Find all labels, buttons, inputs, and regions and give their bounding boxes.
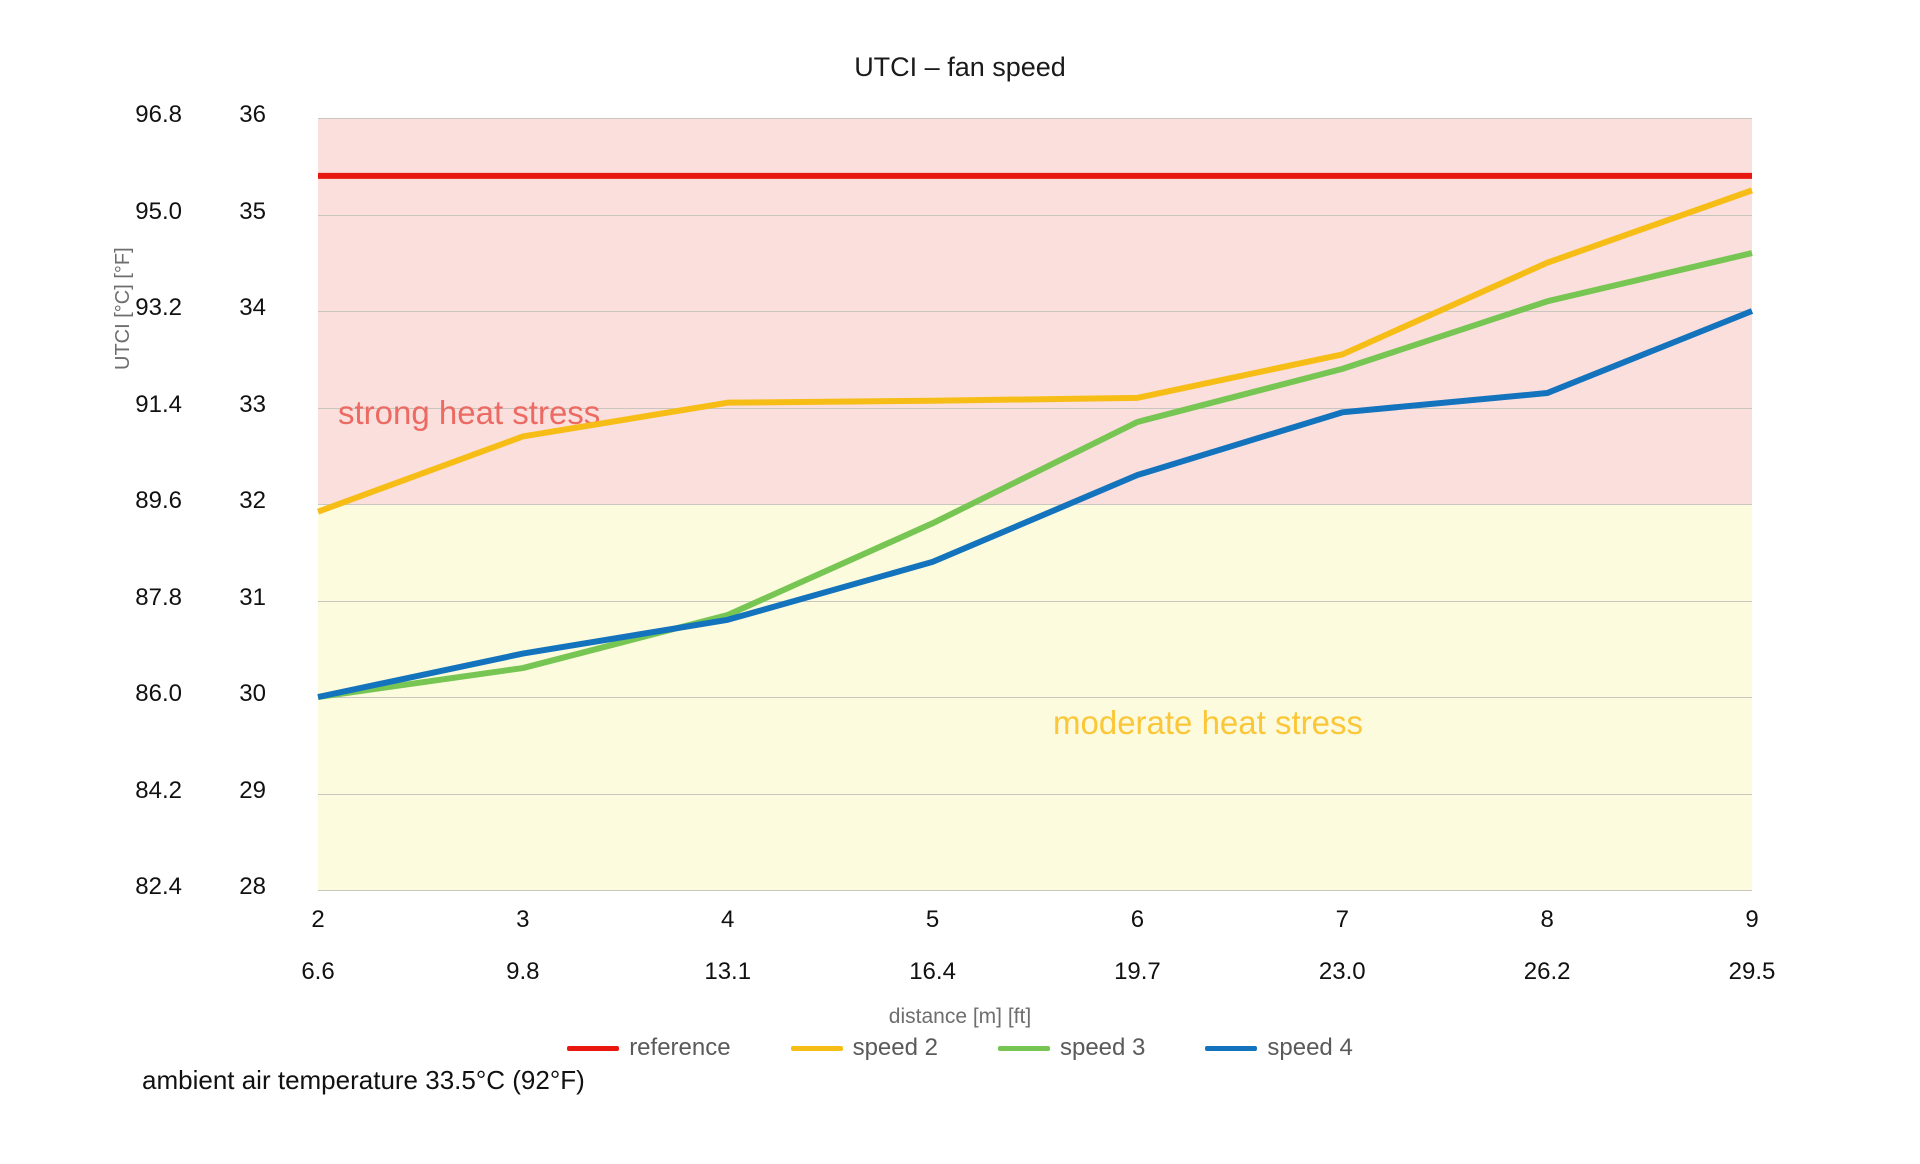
y-tick-fahrenheit: 86.0 — [82, 684, 182, 704]
x-tick-feet: 23.0 — [1282, 958, 1402, 986]
y-axis-tick: 87.831 — [0, 588, 318, 608]
legend-label: speed 2 — [853, 1034, 938, 1062]
legend-item-speed-3[interactable]: speed 3 — [998, 1034, 1145, 1062]
x-axis-tick: 929.5 — [1692, 906, 1812, 986]
y-tick-fahrenheit: 93.2 — [82, 298, 182, 318]
y-tick-celsius: 29 — [206, 781, 266, 801]
y-tick-fahrenheit: 91.4 — [82, 395, 182, 415]
series-line-speed-4 — [318, 311, 1752, 697]
y-axis-tick: 86.030 — [0, 684, 318, 704]
legend-label: speed 4 — [1267, 1034, 1352, 1062]
gridline — [318, 890, 1752, 891]
series-lines — [318, 118, 1752, 890]
legend-swatch-icon — [1205, 1046, 1257, 1051]
x-tick-feet: 16.4 — [873, 958, 993, 986]
y-tick-celsius: 30 — [206, 684, 266, 704]
legend-label: reference — [629, 1034, 730, 1062]
x-axis-tick: 516.4 — [873, 906, 993, 986]
x-axis-tick: 723.0 — [1282, 906, 1402, 986]
y-tick-celsius: 31 — [206, 588, 266, 608]
x-tick-meters: 9 — [1692, 906, 1812, 934]
x-tick-meters: 4 — [668, 906, 788, 934]
chart-container: UTCI – fan speed UTCI [°C] [°F] 96.83695… — [0, 0, 1920, 1164]
y-tick-celsius: 28 — [206, 877, 266, 897]
x-tick-feet: 19.7 — [1077, 958, 1197, 986]
x-axis-title: distance [m] [ft] — [0, 1005, 1920, 1029]
y-tick-fahrenheit: 82.4 — [82, 877, 182, 897]
x-tick-feet: 29.5 — [1692, 958, 1812, 986]
x-tick-meters: 3 — [463, 906, 583, 934]
y-axis-tick: 96.836 — [0, 105, 318, 125]
x-axis-tick: 619.7 — [1077, 906, 1197, 986]
x-tick-feet: 26.2 — [1487, 958, 1607, 986]
x-tick-meters: 5 — [873, 906, 993, 934]
y-axis-tick: 95.035 — [0, 202, 318, 222]
x-tick-feet: 9.8 — [463, 958, 583, 986]
x-axis-tick: 826.2 — [1487, 906, 1607, 986]
y-tick-fahrenheit: 87.8 — [82, 588, 182, 608]
y-tick-fahrenheit: 84.2 — [82, 781, 182, 801]
y-axis-tick: 84.229 — [0, 781, 318, 801]
y-axis-tick: 82.428 — [0, 877, 318, 897]
y-tick-celsius: 36 — [206, 105, 266, 125]
chart-title: UTCI – fan speed — [0, 52, 1920, 83]
y-tick-celsius: 35 — [206, 202, 266, 222]
legend-swatch-icon — [791, 1046, 843, 1051]
x-axis-tick: 26.6 — [258, 906, 378, 986]
chart-caption: ambient air temperature 33.5°C (92°F) — [142, 1065, 585, 1096]
y-axis-tick: 91.433 — [0, 395, 318, 415]
y-tick-fahrenheit: 96.8 — [82, 105, 182, 125]
plot-area: strong heat stress moderate heat stress — [318, 118, 1752, 890]
x-tick-meters: 2 — [258, 906, 378, 934]
x-tick-meters: 8 — [1487, 906, 1607, 934]
x-tick-meters: 6 — [1077, 906, 1197, 934]
series-line-speed-2 — [318, 190, 1752, 511]
y-tick-celsius: 33 — [206, 395, 266, 415]
legend-item-speed-2[interactable]: speed 2 — [791, 1034, 938, 1062]
y-axis-tick: 93.234 — [0, 298, 318, 318]
y-tick-celsius: 34 — [206, 298, 266, 318]
y-axis-tick: 89.632 — [0, 491, 318, 511]
y-tick-celsius: 32 — [206, 491, 266, 511]
legend-item-speed-4[interactable]: speed 4 — [1205, 1034, 1352, 1062]
series-line-speed-3 — [318, 253, 1752, 697]
x-tick-feet: 13.1 — [668, 958, 788, 986]
x-axis-tick: 413.1 — [668, 906, 788, 986]
x-axis-tick: 39.8 — [463, 906, 583, 986]
y-tick-fahrenheit: 95.0 — [82, 202, 182, 222]
legend-label: speed 3 — [1060, 1034, 1145, 1062]
x-tick-feet: 6.6 — [258, 958, 378, 986]
x-tick-meters: 7 — [1282, 906, 1402, 934]
y-tick-fahrenheit: 89.6 — [82, 491, 182, 511]
legend-swatch-icon — [567, 1046, 619, 1051]
legend-swatch-icon — [998, 1046, 1050, 1051]
chart-legend: referencespeed 2speed 3speed 4 — [0, 1034, 1920, 1062]
legend-item-reference[interactable]: reference — [567, 1034, 730, 1062]
